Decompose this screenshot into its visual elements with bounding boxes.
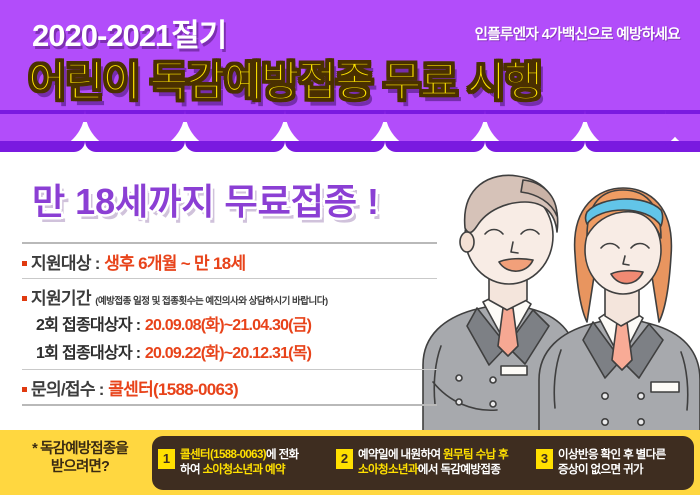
step-line-1: 콜센터(1588-0063)에 전화 bbox=[180, 448, 299, 463]
period-note: (예방접종 일정 및 접종횟수는 예진의사와 상담하시기 바랍니다) bbox=[95, 296, 327, 307]
step-number-badge: 2 bbox=[336, 449, 353, 469]
step2-text-a: 예약일에 내원하여 bbox=[358, 449, 443, 461]
poster-root: 2020-2021절기 인플루엔자 4가백신으로 예방하세요 어린이 독감예방접… bbox=[0, 0, 700, 495]
step2-text-b: 에서 독감예방접종 bbox=[418, 464, 500, 476]
contact-value: 콜센터(1588-0063) bbox=[108, 380, 238, 399]
scallop-shape bbox=[0, 110, 85, 151]
staff-illustration bbox=[415, 150, 700, 435]
staff-illustration-svg bbox=[415, 150, 700, 435]
step-line-1: 이상반응 확인 후 별다른 bbox=[558, 448, 666, 463]
scallop-shape bbox=[385, 110, 485, 151]
step2-highlight-dept: 소아청소년과 bbox=[358, 464, 418, 476]
scallop-border bbox=[0, 110, 700, 152]
scallop-shape bbox=[665, 110, 700, 151]
steps-panel: 1 콜센터(1588-0063)에 전화 하여 소아청소년과 예약 2 예약일에… bbox=[152, 436, 694, 490]
step1-text-b: 하여 bbox=[180, 464, 203, 476]
step-item-2: 2 예약일에 내원하여 원무팀 수납 후 소아청소년과에서 독감예방접종 bbox=[330, 448, 530, 478]
contact-label: 문의/접수 : bbox=[31, 380, 104, 399]
step-item-3: 3 이상반응 확인 후 별다른 증상이 없으면 귀가 bbox=[530, 448, 694, 478]
header-banner: 2020-2021절기 인플루엔자 4가백신으로 예방하세요 어린이 독감예방접… bbox=[0, 0, 700, 122]
info-list: 지원대상 : 생후 6개월 ~ 만 18세 지원기간 (예방접종 일정 및 접종… bbox=[22, 242, 437, 406]
header-subtitle: 인플루엔자 4가백신으로 예방하세요 bbox=[475, 23, 680, 44]
info-row-period: 지원기간 (예방접종 일정 및 접종횟수는 예진의사와 상담하시기 바랍니다) … bbox=[22, 279, 437, 369]
how-to-line1: * 독감예방접종을 bbox=[14, 440, 146, 458]
step1-highlight-call: 콜센터(1588-0063) bbox=[180, 449, 266, 461]
bullet-icon bbox=[22, 387, 27, 392]
scallop-shape bbox=[85, 110, 185, 151]
step-text-3: 이상반응 확인 후 별다른 증상이 없으면 귀가 bbox=[558, 448, 666, 478]
main-title: 어린이 독감예방접종 무료 시행 bbox=[28, 48, 541, 109]
bullet-icon bbox=[22, 261, 27, 266]
headline-free-vaccination: 만 18세까지 무료접종 ! bbox=[32, 173, 379, 225]
info-row-contact: 문의/접수 : 콜센터(1588-0063) bbox=[22, 370, 437, 404]
step-number-badge: 3 bbox=[536, 449, 553, 469]
scallop-shape bbox=[185, 110, 285, 151]
divider bbox=[22, 404, 437, 406]
step-text-1: 콜센터(1588-0063)에 전화 하여 소아청소년과 예약 bbox=[180, 448, 299, 478]
step1-highlight-dept: 소아청소년과 예약 bbox=[203, 464, 285, 476]
dose1-value: 20.09.22(화)~20.12.31(목) bbox=[145, 345, 311, 362]
target-label: 지원대상 : bbox=[31, 254, 100, 273]
step-line-2: 증상이 없으면 귀가 bbox=[558, 463, 666, 478]
bottom-bar: * 독감예방접종을 받으려면? 1 콜센터(1588-0063)에 전화 하여 … bbox=[0, 430, 700, 495]
scallop-shape bbox=[485, 110, 585, 151]
step-line-2: 소아청소년과에서 독감예방접종 bbox=[358, 463, 508, 478]
dose2-label: 2회 접종대상자 : bbox=[36, 317, 140, 334]
step-number-badge: 1 bbox=[158, 449, 175, 469]
step-line-2: 하여 소아청소년과 예약 bbox=[180, 463, 299, 478]
dose1-label: 1회 접종대상자 : bbox=[36, 345, 140, 362]
how-to-question: * 독감예방접종을 받으려면? bbox=[14, 440, 146, 476]
step-item-1: 1 콜센터(1588-0063)에 전화 하여 소아청소년과 예약 bbox=[152, 448, 330, 478]
period-label: 지원기간 bbox=[31, 289, 91, 308]
info-row-target: 지원대상 : 생후 6개월 ~ 만 18세 bbox=[22, 244, 437, 278]
step2-highlight-payment: 원무팀 수납 후 bbox=[443, 449, 508, 461]
dose2-value: 20.09.08(화)~21.04.30(금) bbox=[145, 317, 311, 334]
how-to-line2: 받으려면? bbox=[14, 458, 146, 476]
bullet-icon bbox=[22, 296, 27, 301]
step-line-1: 예약일에 내원하여 원무팀 수납 후 bbox=[358, 448, 508, 463]
info-row-dose1: 1회 접종대상자 : 20.09.22(화)~20.12.31(목) bbox=[22, 337, 437, 365]
info-row-dose2: 2회 접종대상자 : 20.09.08(화)~21.04.30(금) bbox=[22, 309, 437, 337]
target-value: 생후 6개월 ~ 만 18세 bbox=[104, 254, 245, 273]
scallop-shape bbox=[285, 110, 385, 151]
step-text-2: 예약일에 내원하여 원무팀 수납 후 소아청소년과에서 독감예방접종 bbox=[358, 448, 508, 478]
step1-text-a: 에 전화 bbox=[266, 449, 299, 461]
